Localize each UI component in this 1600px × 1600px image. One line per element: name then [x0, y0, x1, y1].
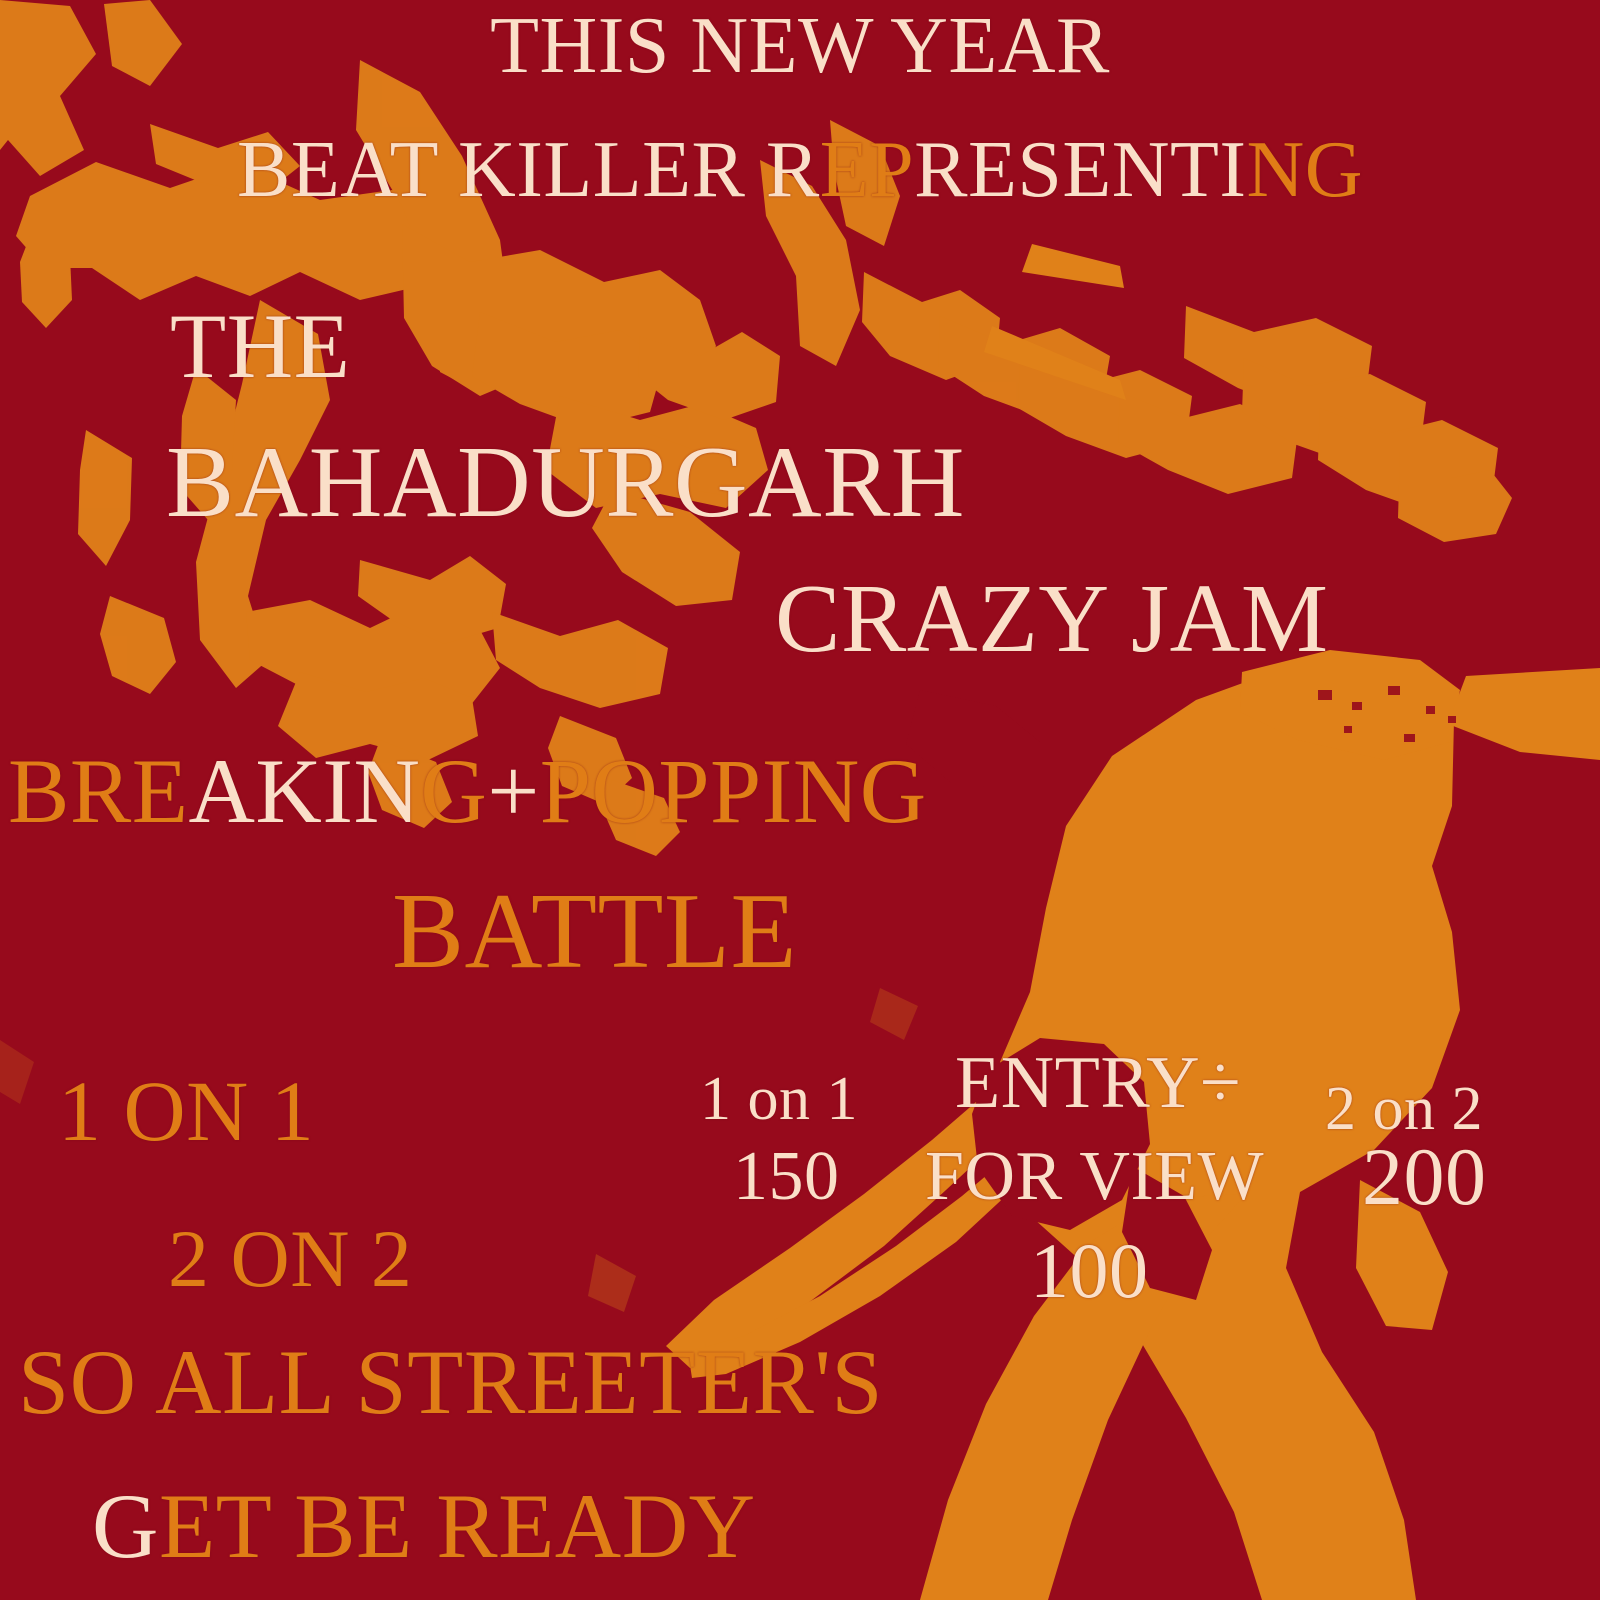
battle-label: BATTLE	[392, 878, 797, 986]
price-one-on-one-label: 1 on 1	[700, 1068, 858, 1130]
style-bre: BRE	[8, 740, 188, 842]
poster-text-layer: THIS NEW YEAR BEAT KILLER REPRESENTING T…	[0, 0, 1600, 1600]
price-for-view-amount: 100	[1030, 1232, 1149, 1310]
headline-part-a: BEAT KILLER R	[237, 126, 820, 214]
headline-part-b: EP	[820, 126, 914, 214]
for-view-label: FOR VIEW	[925, 1142, 1264, 1212]
closing-streeters: SO ALL STREETER'S	[18, 1336, 883, 1428]
title-city: BAHADURGARH	[166, 432, 965, 534]
format-one-on-one: 1 ON 1	[58, 1068, 314, 1154]
price-one-on-one-amount: 150	[733, 1142, 840, 1212]
title-the: THE	[170, 300, 350, 392]
entry-label: ENTRY÷	[955, 1046, 1241, 1120]
styles-breaking-popping: BREAKING+POPPING	[8, 745, 927, 837]
style-popping: POPPING	[540, 740, 927, 842]
closing-rest: ET BE READY	[159, 1475, 756, 1577]
closing-get-ready: GET BE READY	[92, 1480, 756, 1572]
poster-canvas: THIS NEW YEAR BEAT KILLER REPRESENTING T…	[0, 0, 1600, 1600]
style-plus: +	[487, 740, 539, 842]
price-two-on-two-amount: 200	[1362, 1136, 1487, 1218]
style-g: G	[420, 740, 487, 842]
headline-part-d: NG	[1246, 126, 1363, 214]
style-akin: AKIN	[188, 740, 420, 842]
headline-part-c: RESENTI	[914, 126, 1246, 214]
format-two-on-two: 2 ON 2	[168, 1218, 412, 1300]
closing-g: G	[92, 1475, 159, 1577]
title-event-name: CRAZY JAM	[775, 570, 1329, 668]
headline-new-year: THIS NEW YEAR	[490, 6, 1110, 86]
headline-beat-killer-representing: BEAT KILLER REPRESENTING	[237, 130, 1363, 210]
